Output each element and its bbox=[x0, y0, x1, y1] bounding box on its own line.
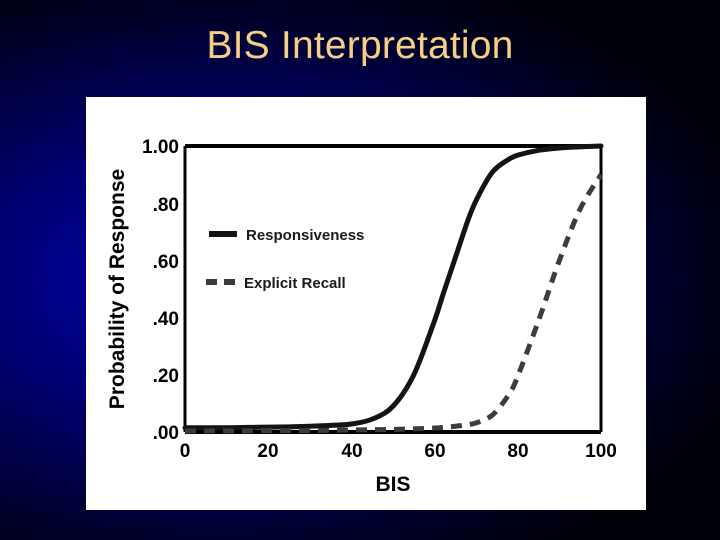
x-tick-label: 0 bbox=[180, 441, 191, 462]
x-axis-title: BIS bbox=[375, 473, 410, 496]
y-tick-label: 1.00 bbox=[142, 137, 179, 158]
x-tick-label: 20 bbox=[257, 441, 278, 462]
y-tick-label: .60 bbox=[153, 252, 179, 273]
chart-legend: Responsiveness Explicit Recall bbox=[206, 227, 364, 292]
y-tick-label: .20 bbox=[153, 366, 179, 387]
x-tick-label: 60 bbox=[424, 441, 445, 462]
chart-panel: 1.00 .80 .60 .40 .20 .00 0 20 40 60 80 1… bbox=[86, 97, 646, 510]
x-tick-label: 80 bbox=[507, 441, 528, 462]
y-tick-label: .40 bbox=[153, 309, 179, 330]
y-tick-label: .80 bbox=[153, 195, 179, 216]
y-axis-title: Probability of Response bbox=[106, 169, 129, 409]
y-axis-tick-labels: 1.00 .80 .60 .40 .20 .00 bbox=[142, 137, 179, 444]
page-title: BIS Interpretation bbox=[0, 26, 720, 67]
probability-of-response-chart: 1.00 .80 .60 .40 .20 .00 0 20 40 60 80 1… bbox=[86, 97, 646, 510]
y-tick-label: .00 bbox=[153, 423, 179, 444]
legend-label-responsiveness: Responsiveness bbox=[246, 227, 364, 244]
presentation-slide: BIS Interpretation 1.00 .80 .60 .40 .20 … bbox=[0, 0, 720, 540]
x-tick-label: 100 bbox=[585, 441, 617, 462]
x-axis-tick-labels: 0 20 40 60 80 100 bbox=[180, 441, 617, 462]
series-line-explicit-recall bbox=[185, 175, 601, 431]
x-tick-label: 40 bbox=[341, 441, 362, 462]
legend-label-explicit-recall: Explicit Recall bbox=[244, 275, 346, 292]
